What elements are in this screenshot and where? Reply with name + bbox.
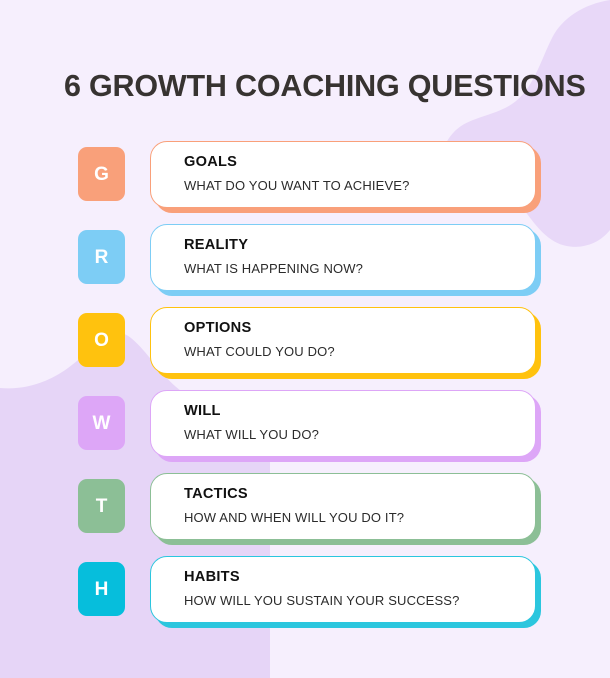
card-body: TACTICS HOW AND WHEN WILL YOU DO IT? — [150, 473, 536, 540]
letter-badge-label: W — [93, 414, 111, 433]
question-row: T TACTICS HOW AND WHEN WILL YOU DO IT? — [0, 473, 610, 545]
letter-badge-label: O — [94, 331, 109, 350]
card-title: REALITY — [184, 237, 248, 253]
card-title: WILL — [184, 403, 221, 419]
question-row: H HABITS HOW WILL YOU SUSTAIN YOUR SUCCE… — [0, 556, 610, 628]
question-card-reality[interactable]: REALITY WHAT IS HAPPENING NOW? — [150, 224, 541, 296]
question-card-options[interactable]: OPTIONS WHAT COULD YOU DO? — [150, 307, 541, 379]
letter-badge-t: T — [78, 479, 125, 533]
page-title: 6 GROWTH COACHING QUESTIONS — [64, 69, 564, 104]
letter-badge-label: R — [95, 248, 109, 267]
card-body: REALITY WHAT IS HAPPENING NOW? — [150, 224, 536, 291]
question-row: O OPTIONS WHAT COULD YOU DO? — [0, 307, 610, 379]
card-subtitle: WHAT COULD YOU DO? — [184, 344, 335, 359]
question-card-habits[interactable]: HABITS HOW WILL YOU SUSTAIN YOUR SUCCESS… — [150, 556, 541, 628]
letter-badge-label: H — [95, 580, 109, 599]
card-title: TACTICS — [184, 486, 248, 502]
card-body: OPTIONS WHAT COULD YOU DO? — [150, 307, 536, 374]
card-title: OPTIONS — [184, 320, 251, 336]
card-title: GOALS — [184, 154, 237, 170]
infographic-poster: 6 GROWTH COACHING QUESTIONS G GOALS WHAT… — [0, 0, 610, 678]
letter-badge-label: G — [94, 165, 109, 184]
card-body: HABITS HOW WILL YOU SUSTAIN YOUR SUCCESS… — [150, 556, 536, 623]
card-subtitle: HOW WILL YOU SUSTAIN YOUR SUCCESS? — [184, 593, 460, 608]
letter-badge-g: G — [78, 147, 125, 201]
card-body: WILL WHAT WILL YOU DO? — [150, 390, 536, 457]
letter-badge-w: W — [78, 396, 125, 450]
question-card-will[interactable]: WILL WHAT WILL YOU DO? — [150, 390, 541, 462]
card-subtitle: HOW AND WHEN WILL YOU DO IT? — [184, 510, 404, 525]
letter-badge-r: R — [78, 230, 125, 284]
question-row: R REALITY WHAT IS HAPPENING NOW? — [0, 224, 610, 296]
letter-badge-h: H — [78, 562, 125, 616]
card-title: HABITS — [184, 569, 240, 585]
card-subtitle: WHAT DO YOU WANT TO ACHIEVE? — [184, 178, 410, 193]
letter-badge-label: T — [96, 497, 108, 516]
question-card-goals[interactable]: GOALS WHAT DO YOU WANT TO ACHIEVE? — [150, 141, 541, 213]
card-subtitle: WHAT WILL YOU DO? — [184, 427, 319, 442]
card-subtitle: WHAT IS HAPPENING NOW? — [184, 261, 363, 276]
letter-badge-o: O — [78, 313, 125, 367]
question-row: G GOALS WHAT DO YOU WANT TO ACHIEVE? — [0, 141, 610, 213]
question-row: W WILL WHAT WILL YOU DO? — [0, 390, 610, 462]
question-card-tactics[interactable]: TACTICS HOW AND WHEN WILL YOU DO IT? — [150, 473, 541, 545]
card-body: GOALS WHAT DO YOU WANT TO ACHIEVE? — [150, 141, 536, 208]
